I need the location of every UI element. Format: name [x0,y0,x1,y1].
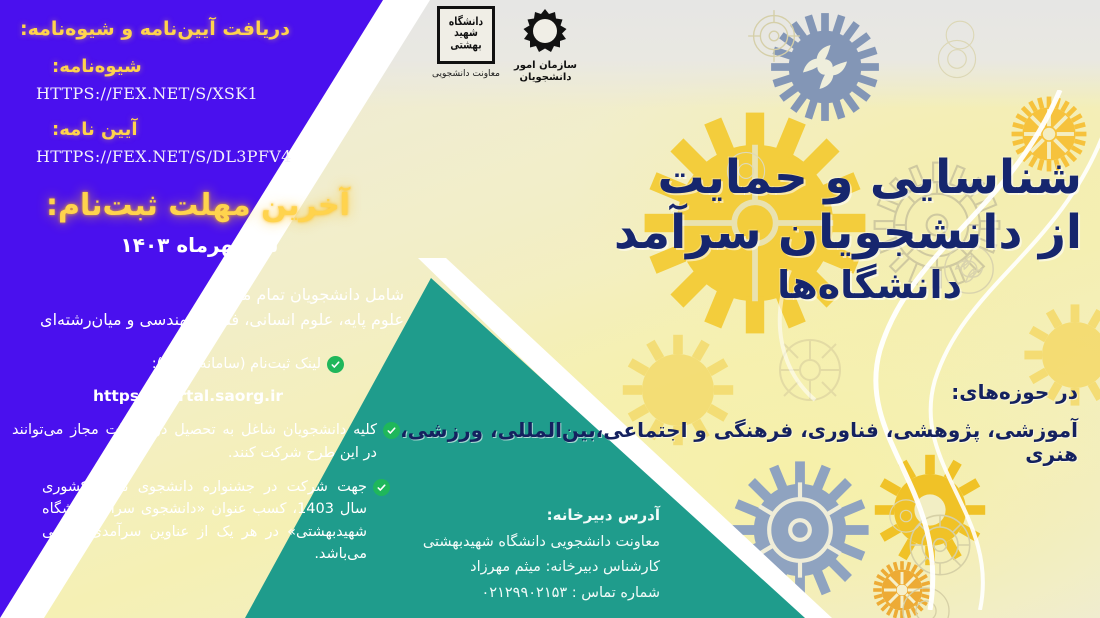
list-item: کلیه دانشجویان شاغل به تحصیل در سنوات مج… [12,419,404,464]
fields-section: در حوزه‌های: آموزشی، پژوهشی، فناوری، فره… [378,380,1078,466]
download-label-1: آیین نامه: [12,119,404,140]
poster-title: شناسایی و حمایت از دانشجویان سرآمد دانشگ… [522,150,1082,308]
secretariat-line-1: معاونت دانشجویی دانشگاه شهیدبهشتی [330,530,660,555]
check-circle-icon [327,356,344,373]
bullet-text-1: کلیه دانشجویان شاغل به تحصیل در سنوات مج… [12,419,377,464]
organization-logo-caption: سازمان امور دانشجویان [514,60,577,83]
scope-line-2: علوم پایه، علوم انسانی، فنی و مهندسی و م… [16,308,404,333]
title-line-1: شناسایی و حمایت [522,150,1082,205]
download-label-0: شیوه‌نامه: [12,56,404,77]
title-line-3: دانشگاه‌ها [522,263,962,308]
fields-list: آموزشی، پژوهشی، فناوری، فرهنگی و اجتماعی… [378,418,1078,466]
logo-row: دانشگاه شهید بهشتی معاونت دانشجویی سازما… [432,6,652,102]
secretariat-title: آدرس دبیرخانه: [330,502,660,528]
check-circle-icon [383,422,400,439]
scope-line-1: شامل دانشجویان تمام مقاطع: [16,283,404,308]
poster-canvas: دانشگاه شهید بهشتی معاونت دانشجویی سازما… [0,0,1100,618]
secretariat-section: آدرس دبیرخانه: معاونت دانشجویی دانشگاه ش… [330,502,660,606]
registration-link[interactable]: https://portal.saorg.ir [12,387,404,405]
university-logo-mark-text: دانشگاه شهید بهشتی [440,17,492,52]
gear-icon-outline-faint-2 [937,12,983,58]
fields-heading: در حوزه‌های: [378,380,1078,404]
shahid-beheshti-university-logo-icon: دانشگاه شهید بهشتی [437,6,495,64]
bullet-text-2: جهت شرکت در جشنواره دانشجوی نمونه کشوری … [42,476,367,566]
university-logo-caption: معاونت دانشجویی [432,69,500,79]
title-line-2: از دانشجویان سرآمد [522,205,1082,260]
secretariat-line-2: کارشناس دبیرخانه: میثم مهرزاد [330,555,660,580]
scope-text: شامل دانشجویان تمام مقاطع: علوم پایه، عل… [12,283,404,333]
deadline-date: ۱۵ مهرماه ۱۴۰۳ [12,233,404,257]
gear-icon-outline-topright [740,2,808,70]
list-item: لینک ثبت‌نام (سامانه سجاد): [12,353,404,375]
downloads-heading: دریافت آیین‌نامه و شیوه‌نامه: [12,18,404,40]
university-logo: دانشگاه شهید بهشتی معاونت دانشجویی [432,6,500,79]
download-url-1[interactable]: HTTPS://FEX.NET/S/DL3PFV4 [12,147,404,166]
organization-logo: سازمان امور دانشجویان [514,6,577,83]
bullet-text-0: لینک ثبت‌نام (سامانه سجاد): [12,353,321,375]
download-url-0[interactable]: HTTPS://FEX.NET/S/XSK1 [12,84,404,103]
student-affairs-organization-logo-icon [516,6,574,58]
check-circle-icon [373,479,390,496]
deadline-heading: آخرین مهلت ثبت‌نام: [12,188,404,223]
secretariat-phone: شماره تماس : ۰۲۱۲۹۹۰۲۱۵۳ [330,581,660,606]
